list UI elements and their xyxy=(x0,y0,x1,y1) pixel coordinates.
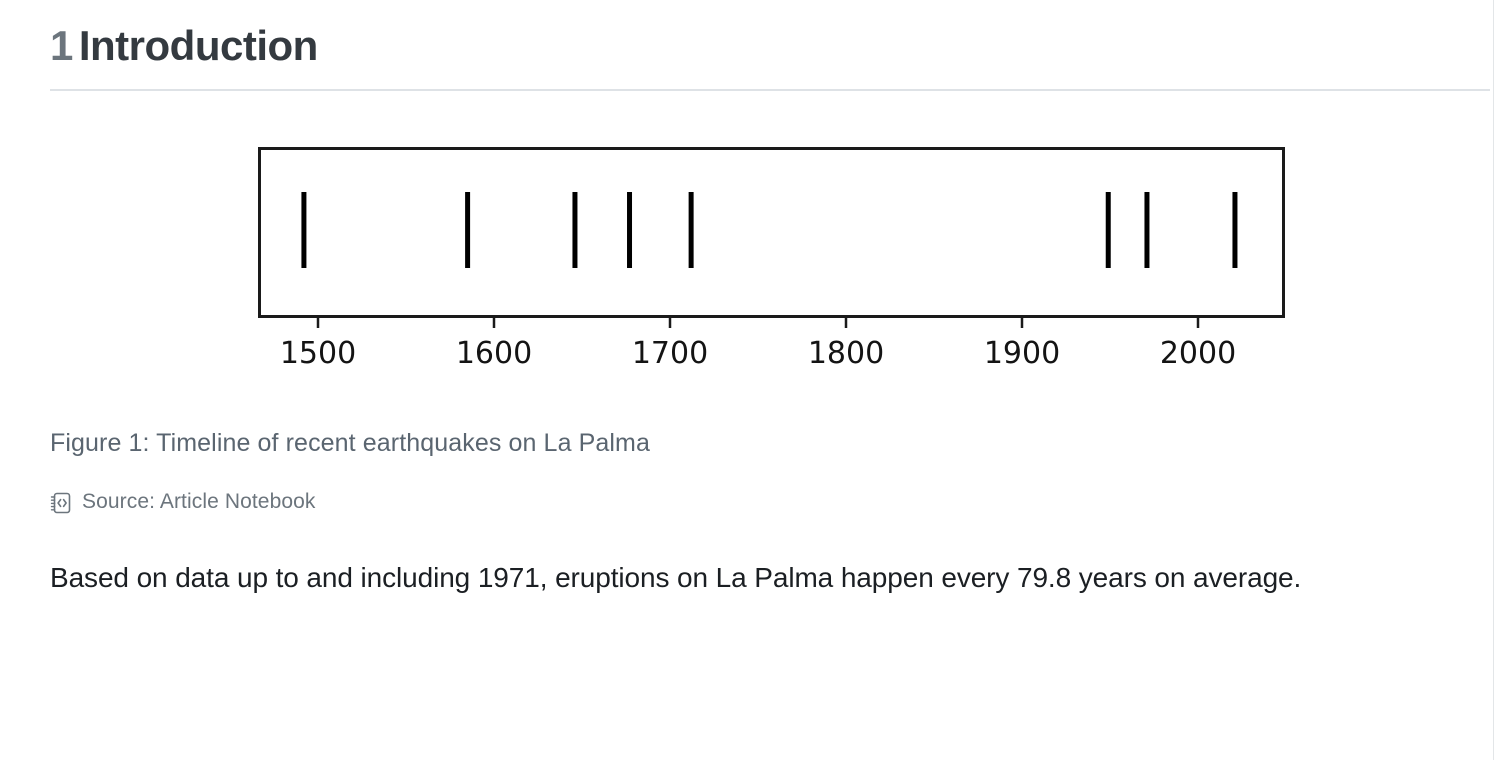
figure-source: Source: Article Notebook xyxy=(50,490,1490,514)
plot-frame xyxy=(260,149,1284,317)
heading-divider xyxy=(50,89,1490,91)
figure-source-label: Source: Article Notebook xyxy=(82,490,316,514)
timeline-plot-svg: 1500 1600 1700 1800 1900 2000 xyxy=(50,137,1490,387)
figure-1: 1500 1600 1700 1800 1900 2000 Figure 1: … xyxy=(50,137,1490,514)
page-title: 1Introduction xyxy=(50,0,1490,69)
figure-caption: Figure 1: Timeline of recent earthquakes… xyxy=(50,427,1490,460)
xtick-label: 1700 xyxy=(632,336,708,371)
timeline-plot: 1500 1600 1700 1800 1900 2000 xyxy=(50,137,1490,387)
body-paragraph: Based on data up to and including 1971, … xyxy=(50,556,1425,600)
x-axis-ticks xyxy=(318,317,1198,328)
xtick-label: 2000 xyxy=(1160,336,1236,371)
page-right-edge xyxy=(1493,0,1494,760)
notebook-code-icon[interactable] xyxy=(50,491,72,515)
section-title: Introduction xyxy=(79,22,318,69)
xtick-label: 1900 xyxy=(984,336,1060,371)
section-number: 1 xyxy=(50,22,73,69)
xtick-label: 1800 xyxy=(808,336,884,371)
document-page: 1Introduction xyxy=(0,0,1500,760)
x-axis-tick-labels: 1500 1600 1700 1800 1900 2000 xyxy=(280,336,1236,371)
xtick-label: 1500 xyxy=(280,336,356,371)
xtick-label: 1600 xyxy=(456,336,532,371)
document-content: 1Introduction xyxy=(50,0,1490,628)
